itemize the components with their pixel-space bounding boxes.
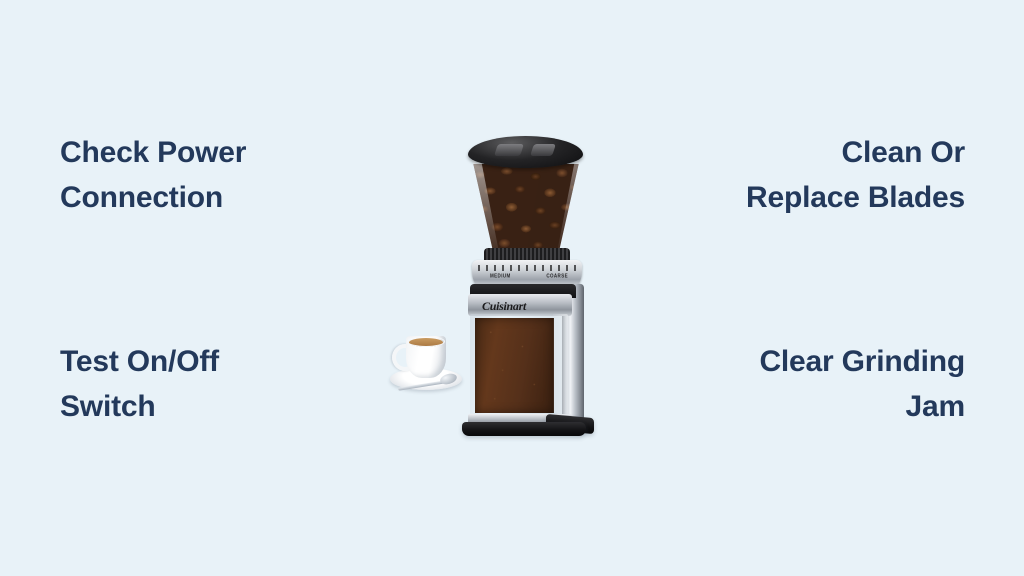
base-black-shape bbox=[462, 422, 586, 436]
ground-coffee-fill bbox=[475, 318, 554, 413]
cup-rim-shape bbox=[407, 336, 445, 347]
lid-slot-right-shape bbox=[530, 144, 556, 156]
grounds-container-highlight bbox=[553, 314, 568, 418]
callout-test-on-off-switch: Test On/Off Switch bbox=[60, 339, 360, 429]
dial-ticks-shape bbox=[478, 265, 576, 271]
hopper-lid-shape bbox=[468, 136, 583, 168]
brand-name-label: Cuisinart bbox=[482, 299, 526, 314]
dial-label-medium: MEDIUM bbox=[490, 272, 511, 278]
lid-slot-left-shape bbox=[494, 144, 524, 156]
callout-check-power-connection: Check Power Connection bbox=[60, 130, 360, 220]
brand-band-shape: Cuisinart bbox=[468, 294, 572, 316]
coffee-grinder-product-image: MEDIUM COARSE Cuisinart bbox=[386, 128, 606, 438]
grounds-container-shape bbox=[470, 314, 568, 418]
callout-clean-or-replace-blades: Clean Or Replace Blades bbox=[635, 130, 965, 220]
espresso-cup-shape bbox=[406, 336, 446, 378]
slide-canvas: Check Power Connection Clean Or Replace … bbox=[0, 0, 1024, 576]
bean-hopper-shape bbox=[472, 158, 580, 254]
callout-clear-grinding-jam: Clear Grinding Jam bbox=[635, 339, 965, 429]
dial-label-coarse: COARSE bbox=[546, 272, 568, 278]
